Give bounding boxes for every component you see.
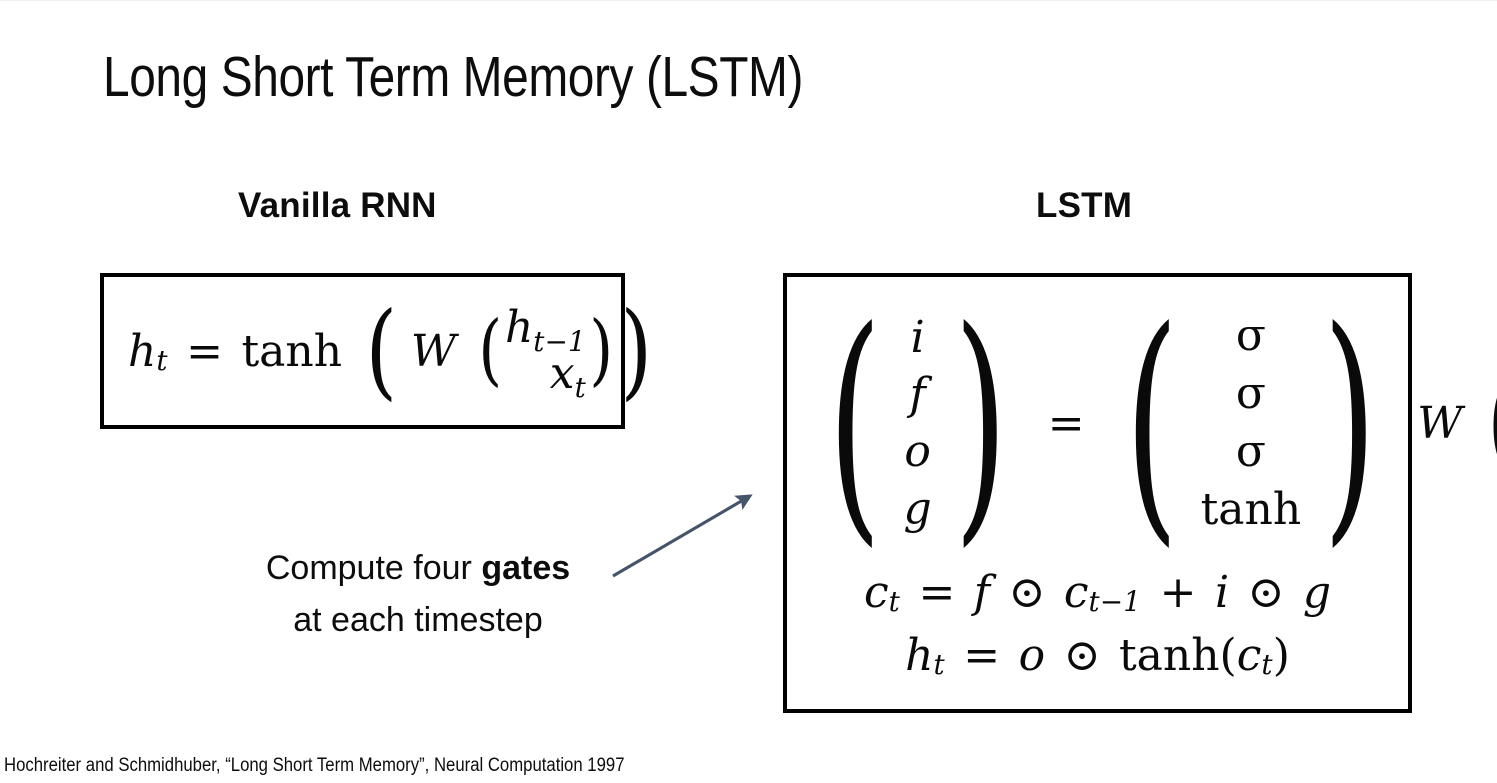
hidden-equals-sign: = <box>963 630 1000 681</box>
lstm-activations-vector: σ σ σ tanh <box>1201 307 1302 539</box>
cell-candidate: g <box>1303 567 1331 618</box>
cell-lhs-subscript: t <box>889 585 900 618</box>
lstm-gate-i: i <box>911 309 925 366</box>
paren-open-outer: ( <box>365 303 397 399</box>
cell-prev-subscript: t−1 <box>1089 585 1142 618</box>
rnn-lhs-symbol: h <box>128 326 156 377</box>
cell-lhs-symbol: c <box>864 567 889 618</box>
paren-open-gates: ( <box>828 308 882 538</box>
rnn-lhs-subscript: t <box>156 344 167 377</box>
citation-footer: Hochreiter and Schmidhuber, “Long Short … <box>4 755 624 777</box>
vanilla-rnn-equation: ht = tanh ( W ( ht−1 xt ) ) <box>128 301 657 401</box>
hidden-lhs-symbol: h <box>905 630 933 681</box>
rnn-tanh-label: tanh <box>242 326 343 377</box>
slide-canvas: Long Short Term Memory (LSTM) Vanilla RN… <box>0 0 1497 783</box>
paren-close-outer: ) <box>621 303 653 399</box>
cell-forget-gate: f <box>974 567 990 618</box>
rnn-vec1-subscript: t <box>575 371 586 404</box>
annotation-text: Compute four gates at each timestep <box>238 543 598 646</box>
lstm-activation-3: tanh <box>1201 481 1302 539</box>
annotation-line1-bold: gates <box>481 549 570 587</box>
heading-lstm: LSTM <box>1036 186 1132 226</box>
rnn-input-vector-row-0: ht−1 <box>505 305 586 351</box>
hidden-tanh-label: tanh <box>1119 630 1220 681</box>
rnn-vec0-symbol: h <box>505 302 533 353</box>
rnn-input-vector: ht−1 xt <box>505 305 586 397</box>
hadamard-icon-2: ⊙ <box>1248 567 1285 618</box>
cell-prev-symbol: c <box>1064 567 1089 618</box>
lstm-gate-o: o <box>904 423 931 480</box>
hidden-arg-symbol: c <box>1237 630 1262 681</box>
lstm-activation-0: σ <box>1236 307 1266 365</box>
hidden-paren-close: ) <box>1273 630 1290 681</box>
lstm-activation-1: σ <box>1236 365 1266 423</box>
lstm-gates-equation: ( i f o g ) = ( σ σ σ tanh ) W ( ht−1 xt… <box>806 293 1497 553</box>
cell-input-gate: i <box>1215 567 1229 618</box>
annotation-line1-prefix: Compute four <box>266 549 481 587</box>
heading-vanilla-rnn: Vanilla RNN <box>238 186 437 226</box>
rnn-weight-symbol: W <box>411 326 456 377</box>
hidden-output-gate: o <box>1019 630 1046 681</box>
lstm-gate-f: f <box>909 366 925 423</box>
cell-equals-sign: = <box>918 567 955 618</box>
paren-open-lstm-input: ( <box>1487 371 1497 474</box>
hidden-paren-open: ( <box>1220 630 1237 681</box>
annotation-arrow-icon <box>600 479 770 589</box>
paren-open-vector: ( <box>478 315 502 387</box>
paren-close-activations: ) <box>1323 308 1377 538</box>
rnn-equals-sign: = <box>186 326 223 377</box>
cell-plus-sign: + <box>1160 567 1197 618</box>
hadamard-icon-1: ⊙ <box>1009 567 1046 618</box>
page-title: Long Short Term Memory (LSTM) <box>103 45 803 111</box>
lstm-activation-2: σ <box>1236 423 1266 481</box>
lstm-gates-vector: i f o g <box>904 309 932 538</box>
paren-open-activations: ( <box>1125 308 1179 538</box>
hadamard-icon-3: ⊙ <box>1064 630 1101 681</box>
lstm-cell-state-equation: ct = f ⊙ ct−1 + i ⊙ g <box>783 567 1412 618</box>
rnn-vec0-subscript: t−1 <box>533 325 586 358</box>
lstm-weight-symbol: W <box>1417 398 1462 449</box>
lstm-gate-g: g <box>904 480 932 537</box>
lstm-hidden-state-equation: ht = o ⊙ tanh ( ct ) <box>783 630 1412 681</box>
paren-close-vector: ) <box>589 315 613 387</box>
lstm-equals-sign: = <box>1048 398 1085 449</box>
hidden-lhs-subscript: t <box>933 648 944 681</box>
annotation-line2: at each timestep <box>293 601 542 639</box>
hidden-arg-subscript: t <box>1261 648 1272 681</box>
paren-close-gates: ) <box>954 308 1008 538</box>
